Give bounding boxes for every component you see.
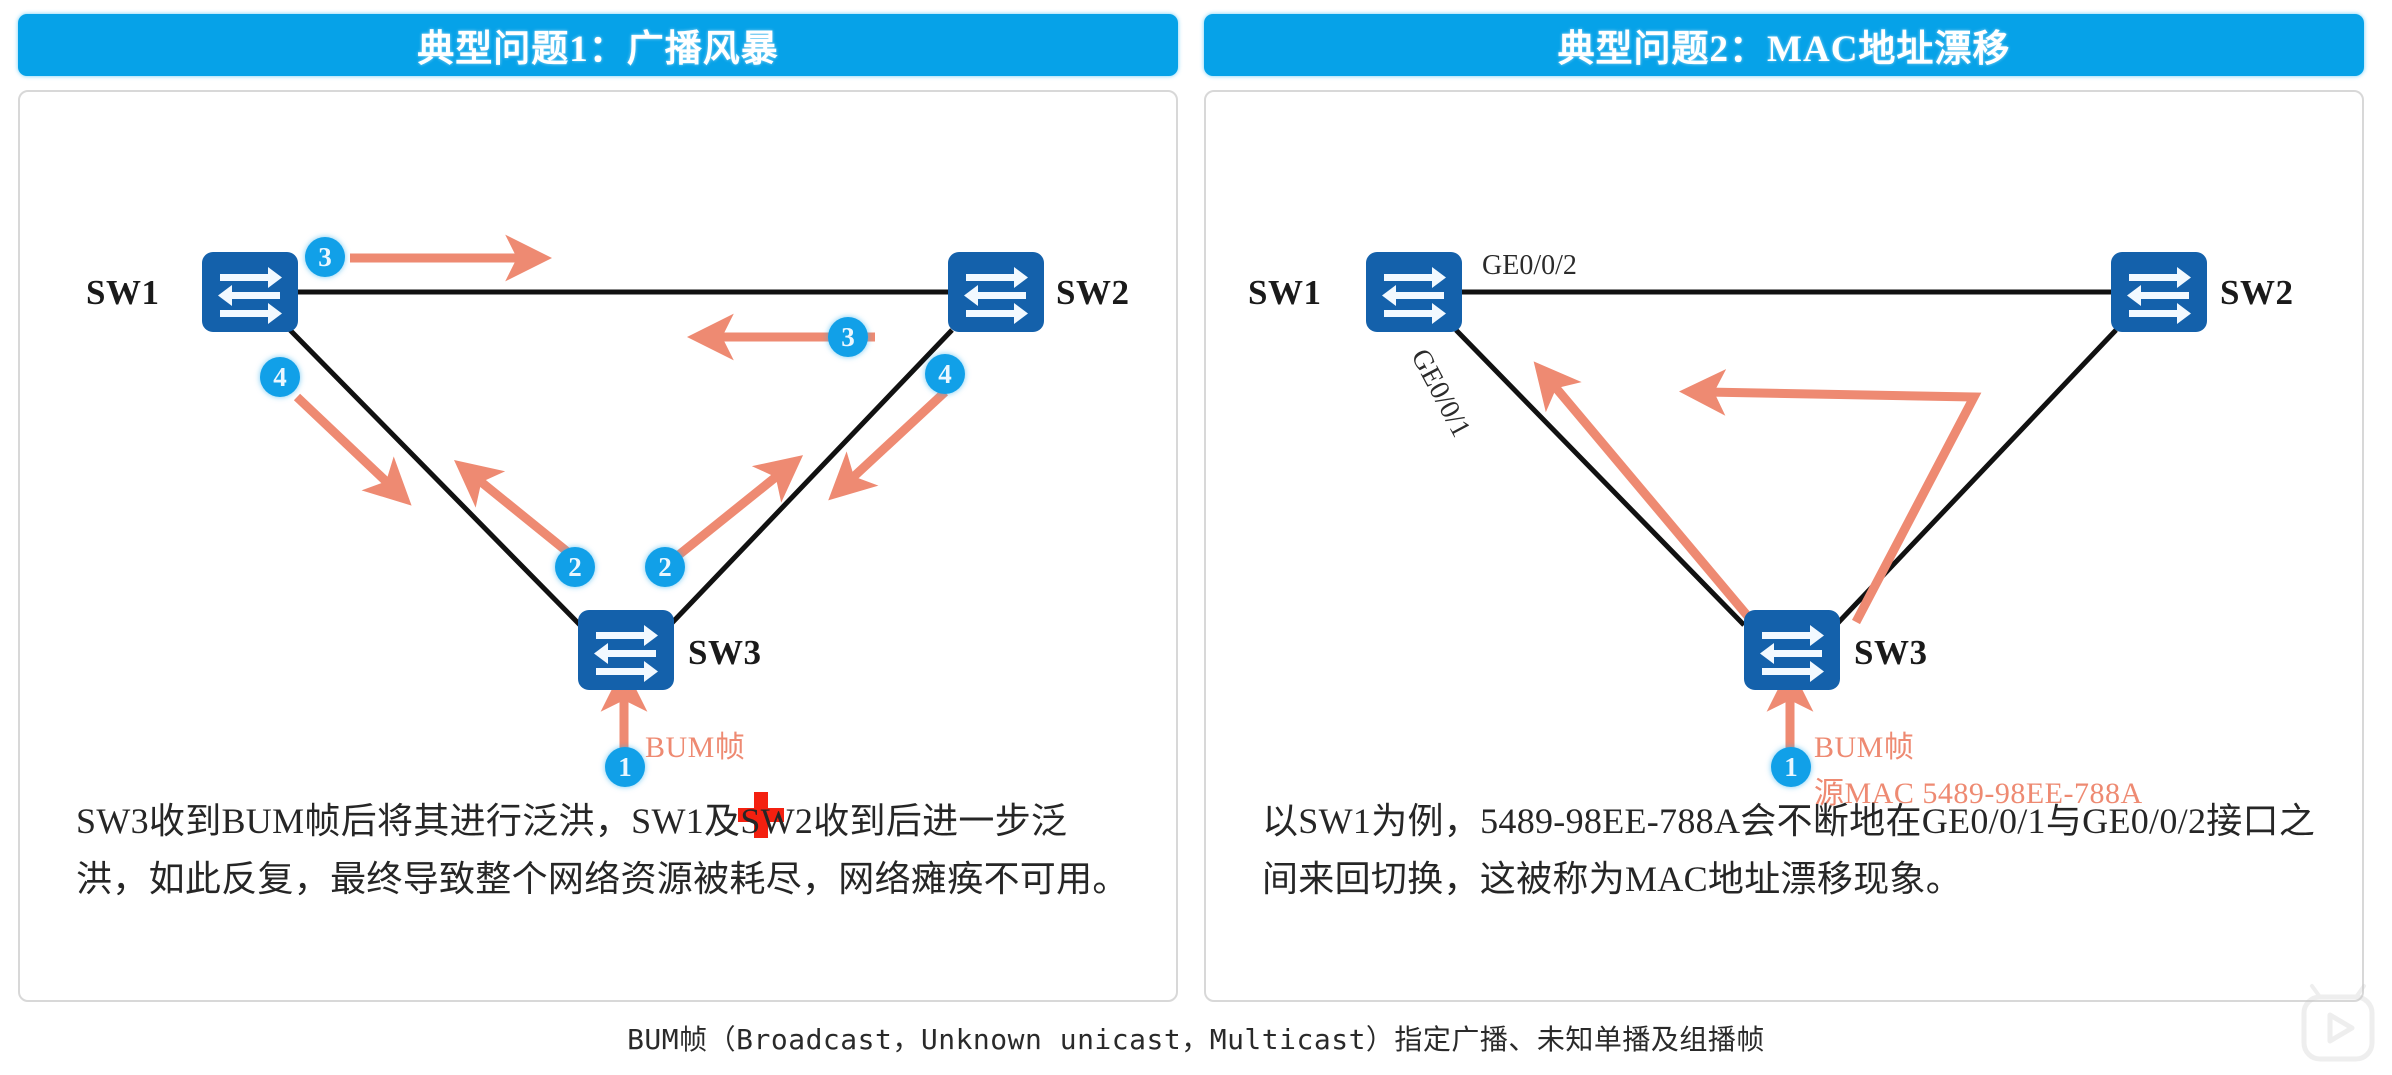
step-badge-3-sw1: 3	[305, 237, 345, 277]
switch-node-sw1[interactable]	[202, 252, 298, 332]
panel-header-broadcast-storm: 典型问题1：广播风暴	[18, 14, 1178, 76]
step-badge-1-bum: 1	[1771, 747, 1811, 787]
slide-canvas: 典型问题1：广播风暴	[0, 0, 2392, 1075]
annotation-bum-frame: BUM帧	[645, 722, 745, 766]
step-badge-3-sw2: 3	[828, 317, 868, 357]
switch-icon	[948, 252, 1044, 332]
watermark-play-logo	[2290, 983, 2386, 1073]
panel-title: 典型问题1：广播风暴	[417, 18, 779, 72]
annotation-bum-frame: BUM帧	[1814, 722, 1914, 766]
switch-icon	[1366, 252, 1462, 332]
node-label-sw2: SW2	[2220, 273, 2293, 313]
panel-body-broadcast-storm: SW1 SW2	[18, 90, 1178, 1002]
step-badge-4-sw1: 4	[260, 357, 300, 397]
panel-broadcast-storm: 典型问题1：广播风暴	[18, 14, 1178, 1004]
switch-node-sw2[interactable]	[2111, 252, 2207, 332]
footnote-bum-definition: BUM帧（Broadcast，Unknown unicast，Multicast…	[0, 1018, 2392, 1058]
topology-diagram-broadcast-storm: SW1 SW2	[20, 92, 1176, 782]
link-sw1-sw3	[290, 330, 580, 625]
switch-node-sw3[interactable]	[1744, 610, 1840, 690]
node-label-sw3: SW3	[688, 633, 761, 673]
arrow-step4-sw1-to-sw3	[297, 397, 392, 487]
step-badge-4-sw2: 4	[925, 354, 965, 394]
node-label-sw2: SW2	[1056, 273, 1129, 313]
panel-header-mac-address-drift: 典型问题2：MAC地址漂移	[1204, 14, 2364, 76]
arrow-step2-sw3-to-sw2	[670, 472, 782, 562]
step-badge-1-bum: 1	[605, 747, 645, 787]
node-label-sw1: SW1	[86, 273, 159, 313]
step-badge-2-right: 2	[645, 547, 685, 587]
panel-mac-address-drift: 典型问题2：MAC地址漂移	[1204, 14, 2364, 1004]
switch-icon	[202, 252, 298, 332]
panel-caption-broadcast-storm: SW3收到BUM帧后将其进行泛洪，SW1及SW2收到后进一步泛洪，如此反复，最终…	[76, 792, 1136, 909]
switch-node-sw2[interactable]	[948, 252, 1044, 332]
panel-body-mac-address-drift: SW1 SW2	[1204, 90, 2364, 1002]
link-sw2-sw3	[670, 330, 952, 625]
node-label-sw1: SW1	[1248, 273, 1321, 313]
panel-title: 典型问题2：MAC地址漂移	[1558, 18, 2011, 72]
switch-icon	[578, 610, 674, 690]
arrow-drift-path-to-sw1	[1551, 382, 1751, 620]
switch-node-sw1[interactable]	[1366, 252, 1462, 332]
step-badge-2-left: 2	[555, 547, 595, 587]
panel-caption-mac-address-drift: 以SW1为例，5489-98EE-788A会不断地在GE0/0/1与GE0/0/…	[1262, 792, 2322, 909]
switch-node-sw3[interactable]	[578, 610, 674, 690]
link-sw1-sw3	[1456, 330, 1744, 625]
topology-diagram-mac-drift: SW1 SW2	[1206, 92, 2362, 782]
port-label-ge0-0-2: GE0/0/2	[1482, 250, 1577, 282]
arrow-step4-sw2-to-sw3	[848, 392, 945, 482]
node-label-sw3: SW3	[1854, 633, 1927, 673]
switch-icon	[1744, 610, 1840, 690]
switch-icon	[2111, 252, 2207, 332]
arrow-drift-path-sw3-sw2-sw1	[1706, 392, 1974, 622]
